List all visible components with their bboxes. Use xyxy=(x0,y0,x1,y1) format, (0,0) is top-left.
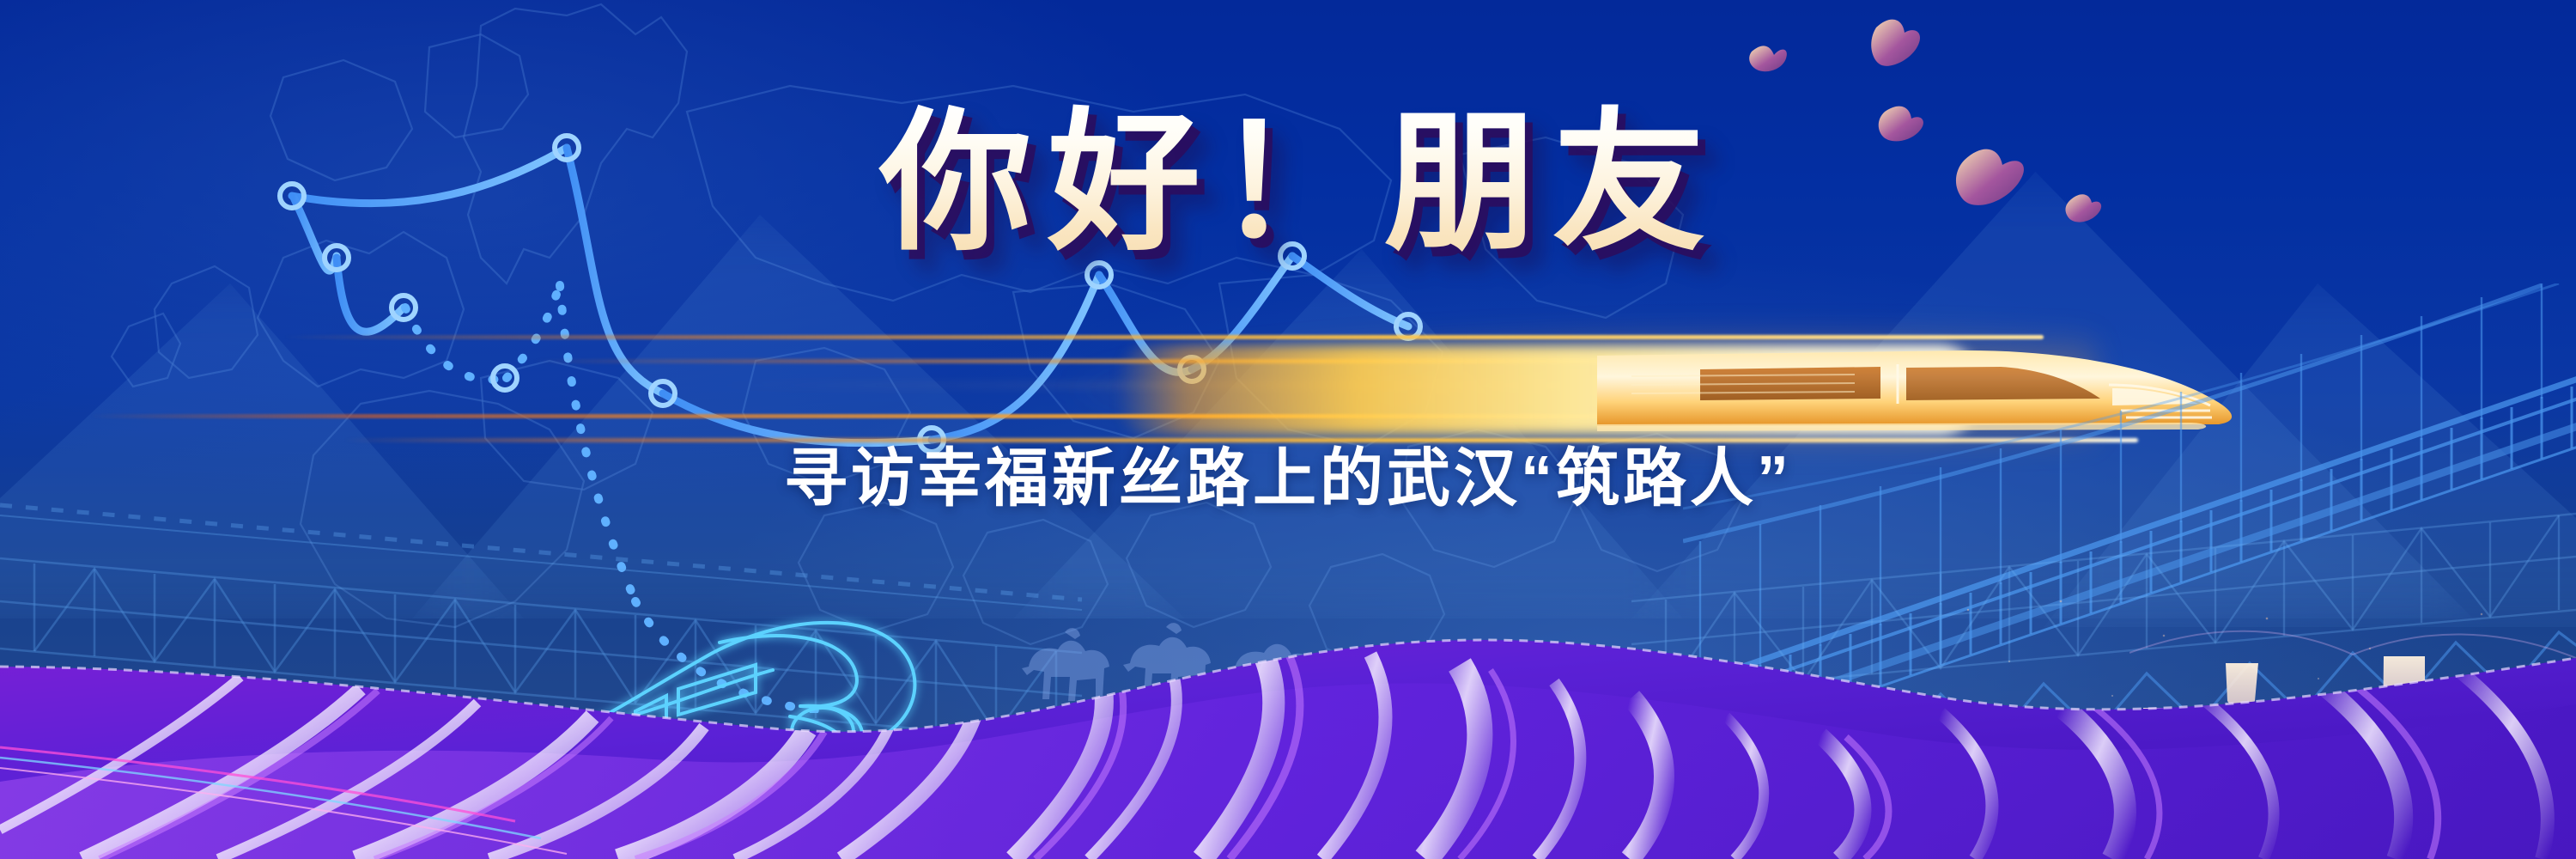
page-subtitle: 寻访幸福新丝路上的武汉“筑路人” xyxy=(0,447,2576,510)
banner-root: 你好！朋友 寻访幸福新丝路上的武汉“筑路人” xyxy=(0,0,2576,859)
page-title: 你好！朋友 xyxy=(0,103,2576,264)
purple-silk-waves xyxy=(0,576,2576,859)
